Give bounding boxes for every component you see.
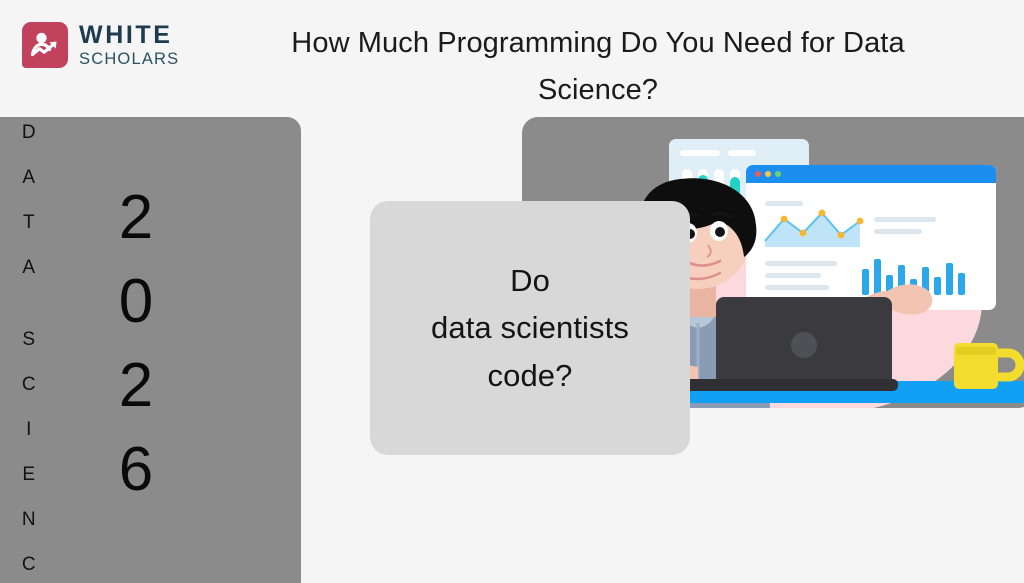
brand-wordmark: WHITE SCHOLARS [79, 23, 179, 68]
vertical-letter: T [23, 213, 35, 232]
vertical-letter: N [22, 510, 36, 529]
side-panel: D A T A S C I E N C E 2 0 2 6 [0, 117, 301, 583]
vertical-letter: D [22, 123, 36, 142]
question-card: Do data scientists code? [370, 201, 690, 455]
vertical-letter: C [22, 375, 36, 394]
slide-canvas: WHITE SCHOLARS How Much Programming Do Y… [0, 0, 1024, 583]
brand-word-secondary: SCHOLARS [79, 51, 179, 68]
year-digit: 2 [119, 187, 153, 249]
year-digit: 6 [119, 439, 153, 501]
vertical-letter: C [22, 555, 36, 574]
year-digit: 2 [119, 355, 153, 417]
brand-word-primary: WHITE [79, 23, 179, 48]
dashboard-browser-window [746, 165, 996, 310]
person-growth-arrow-icon [22, 22, 68, 68]
question-card-text: Do data scientists code? [431, 257, 629, 398]
page-title: How Much Programming Do You Need for Dat… [228, 20, 968, 114]
vertical-letter: E [22, 465, 35, 484]
year-digit: 0 [119, 271, 153, 333]
vertical-letter: S [22, 330, 35, 349]
vertical-letter: A [22, 258, 35, 277]
vertical-year-2026: 2 0 2 6 [100, 187, 172, 523]
vertical-label-data-science: D A T A S C I E N C E [16, 123, 42, 583]
header: WHITE SCHOLARS How Much Programming Do Y… [0, 0, 1024, 110]
brand-logo[interactable]: WHITE SCHOLARS [22, 22, 179, 68]
vertical-letter: I [26, 420, 32, 439]
vertical-letter: A [22, 168, 35, 187]
